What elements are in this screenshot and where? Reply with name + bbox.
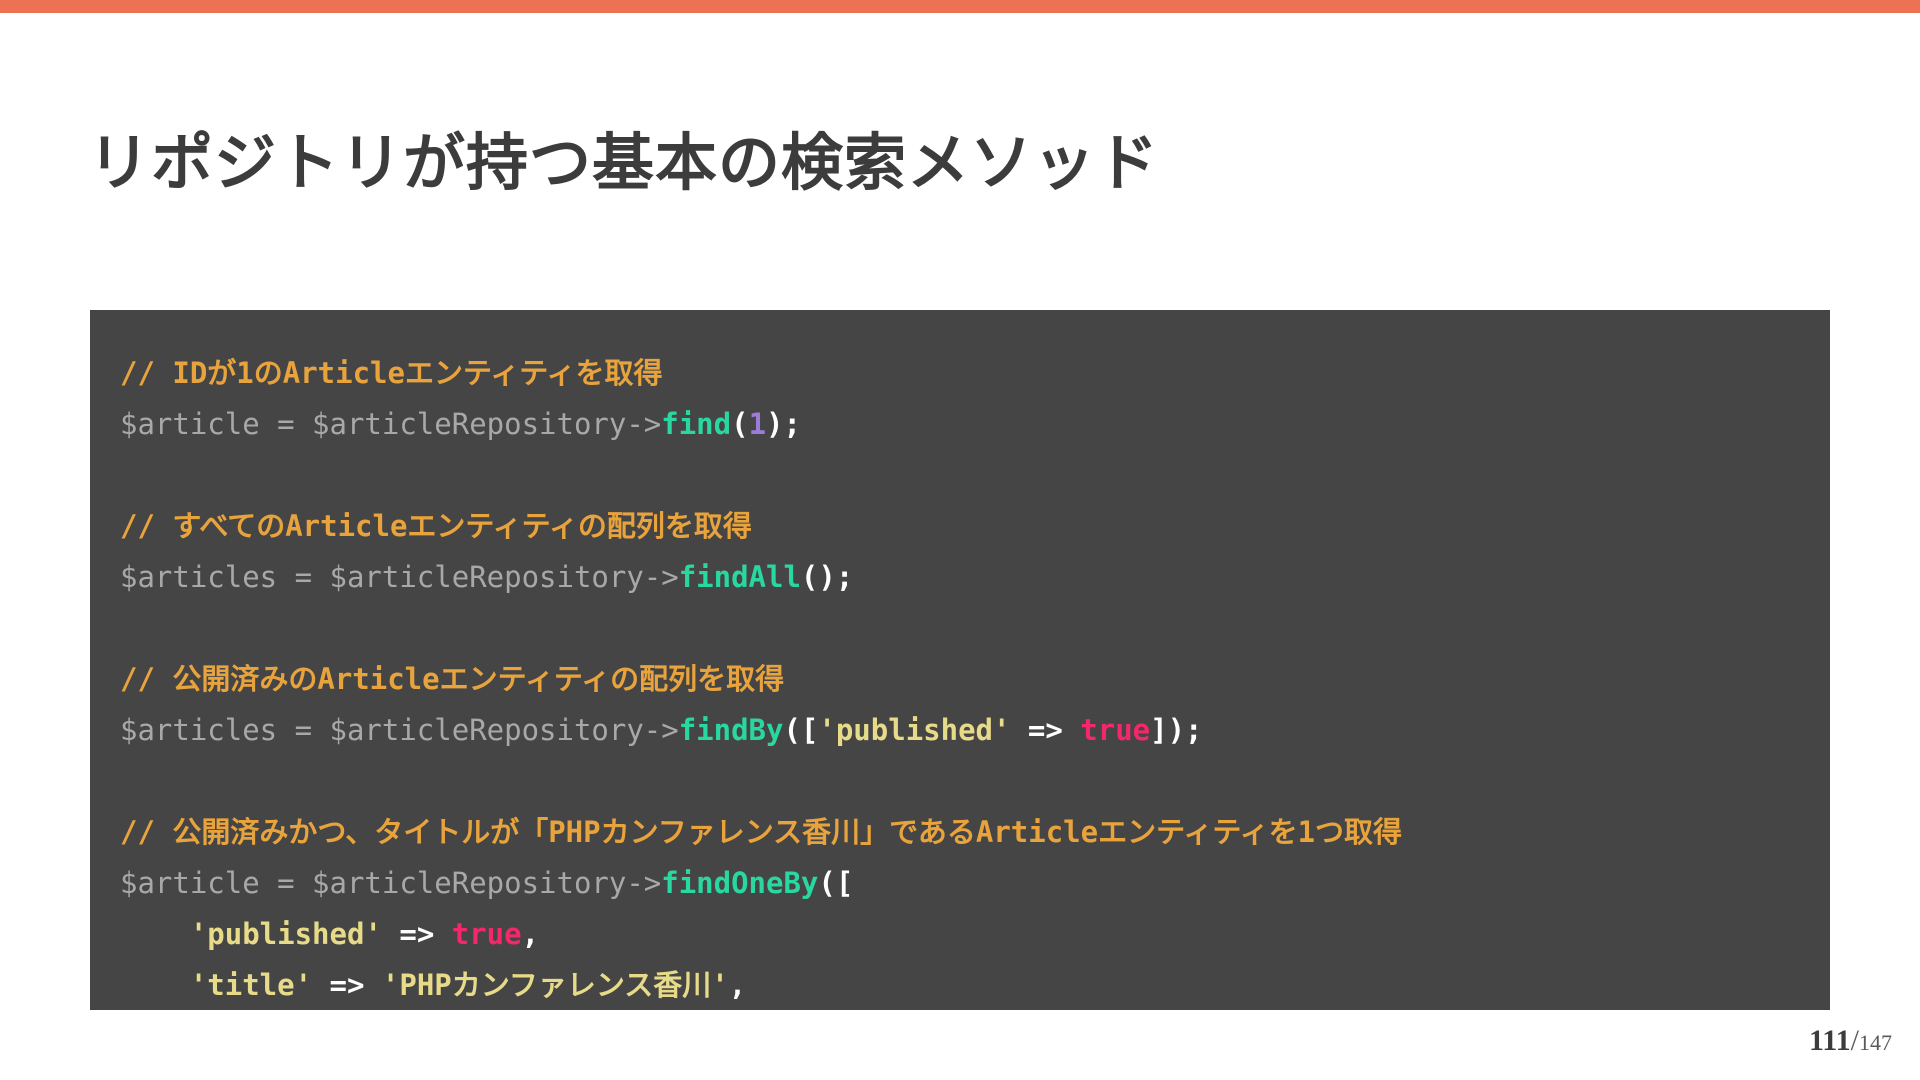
code-token: => — [312, 968, 382, 1002]
code-token: // 公開済みかつ、タイトルが「PHPカンファレンス香川」であるArticleエ… — [120, 815, 1402, 849]
code-token: $articles = $articleRepository-> — [120, 560, 679, 594]
code-token: // IDが1のArticleエンティティを取得 — [120, 356, 663, 390]
code-token: ([ — [783, 713, 818, 747]
code-token — [120, 611, 137, 645]
code-token: // 公開済みのArticleエンティティの配列を取得 — [120, 662, 784, 696]
code-token: , — [729, 968, 746, 1002]
code-token: ([ — [818, 866, 853, 900]
code-token: 'published' — [818, 713, 1010, 747]
code-token — [120, 917, 190, 951]
page-number-total: 147 — [1859, 1030, 1892, 1055]
code-token — [120, 458, 137, 492]
code-line: // 公開済みかつ、タイトルが「PHPカンファレンス香川」であるArticleエ… — [120, 807, 1830, 858]
code-line: 'published' => true, — [120, 909, 1830, 960]
code-token: 1 — [749, 407, 766, 441]
code-token: 'published' — [190, 917, 382, 951]
top-accent-bar — [0, 0, 1920, 13]
code-line: 'title' => 'PHPカンファレンス香川', — [120, 960, 1830, 1010]
code-line: $articles = $articleRepository->findAll(… — [120, 552, 1830, 603]
code-line — [120, 603, 1830, 654]
page-number: 111/147 — [1809, 1024, 1892, 1058]
code-line — [120, 450, 1830, 501]
code-token — [120, 968, 190, 1002]
code-line — [120, 756, 1830, 807]
code-token: ]); — [1150, 713, 1202, 747]
code-token: 'title' — [190, 968, 312, 1002]
code-line: $article = $articleRepository->findOneBy… — [120, 858, 1830, 909]
code-token: findBy — [679, 713, 784, 747]
code-token: , — [522, 917, 539, 951]
code-line: // すべてのArticleエンティティの配列を取得 — [120, 501, 1830, 552]
code-lines: // IDが1のArticleエンティティを取得$article = $arti… — [120, 348, 1830, 1010]
code-token: true — [452, 917, 522, 951]
code-token: ); — [766, 407, 801, 441]
code-token: $article = $articleRepository-> — [120, 407, 661, 441]
page-number-current: 111 — [1809, 1024, 1851, 1057]
code-line: $article = $articleRepository->find(1); — [120, 399, 1830, 450]
page-title: リポジトリが持つ基本の検索メソッド — [88, 128, 1159, 199]
code-token: 'PHPカンファレンス香川' — [382, 968, 729, 1002]
code-token: => — [382, 917, 452, 951]
code-token: true — [1080, 713, 1150, 747]
code-token: findAll — [679, 560, 801, 594]
code-token: => — [1010, 713, 1080, 747]
code-token: find — [661, 407, 731, 441]
code-block: // IDが1のArticleエンティティを取得$article = $arti… — [90, 310, 1830, 1010]
code-line: $articles = $articleRepository->findBy([… — [120, 705, 1830, 756]
code-token: $article = $articleRepository-> — [120, 866, 661, 900]
code-line: // 公開済みのArticleエンティティの配列を取得 — [120, 654, 1830, 705]
code-token: ( — [731, 407, 748, 441]
code-token: (); — [801, 560, 853, 594]
code-token — [120, 764, 137, 798]
page-number-separator: / — [1851, 1024, 1859, 1057]
code-line: // IDが1のArticleエンティティを取得 — [120, 348, 1830, 399]
code-token: // すべてのArticleエンティティの配列を取得 — [120, 509, 752, 543]
code-token: findOneBy — [661, 866, 818, 900]
code-token: $articles = $articleRepository-> — [120, 713, 679, 747]
